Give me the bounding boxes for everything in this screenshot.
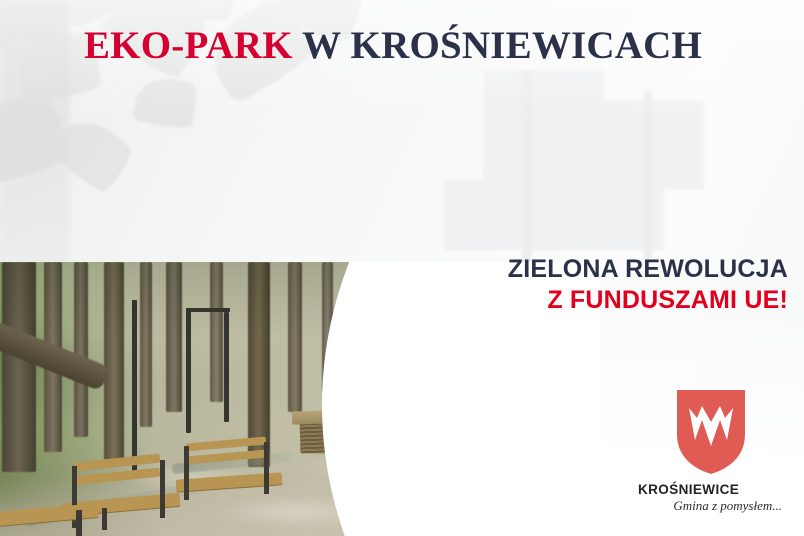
tree-trunk [2,262,36,472]
municipality-logo: KROŚNIEWICE Gmina z pomysłem... [636,388,786,514]
lamp-post [132,300,137,475]
headline-highlight: EKO-PARK [84,24,293,67]
tree-trunk [104,262,124,462]
pergola-frame [186,308,230,312]
tree-trunk [210,262,223,402]
subtitle-line-1: ZIELONA REWOLUCJA [508,255,788,284]
krosniewice-coat-of-arms-icon [675,388,747,476]
tree-trunk [140,262,152,427]
tree-trunk [74,262,88,437]
park-bench [0,474,106,536]
park-bench [176,440,286,502]
poster-headline: EKO-PARK W KROŚNIEWICACH [0,26,804,65]
poster-subtitle: ZIELONA REWOLUCJA Z FUNDUSZAMI UE! [508,255,788,315]
pergola-frame [186,308,191,433]
tree-trunk [166,262,182,412]
headline-rest: W KROŚNIEWICACH [302,24,702,67]
pergola-frame [224,312,229,422]
tree-trunk [288,262,302,412]
municipality-tagline: Gmina z pomysłem... [636,498,786,514]
municipality-name: KROŚNIEWICE [636,482,786,497]
poster-canvas: EKO-PARK W KROŚNIEWICACH [0,0,804,536]
subtitle-line-2: Z FUNDUSZAMI UE! [508,286,788,315]
